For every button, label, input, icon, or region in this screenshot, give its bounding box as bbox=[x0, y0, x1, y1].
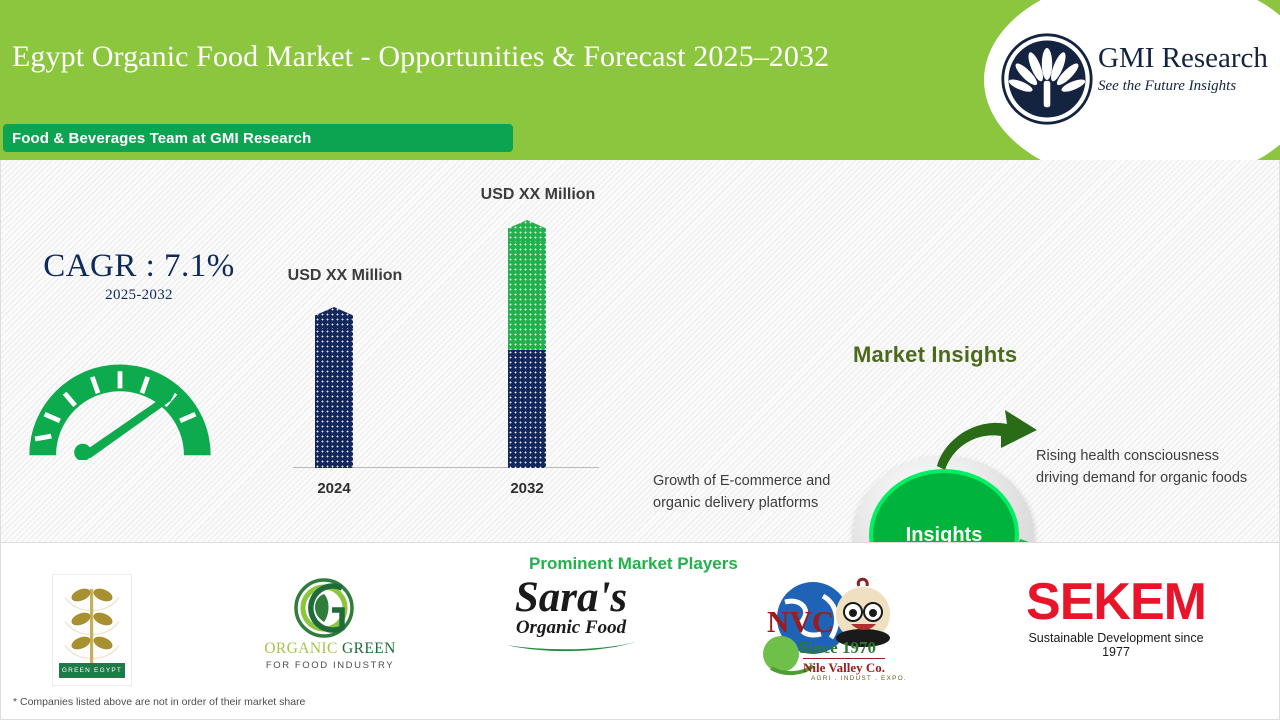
organic-green-tagline: FOR FOOD INDUSTRY bbox=[256, 660, 404, 671]
footnote: * Companies listed above are not in orde… bbox=[13, 696, 305, 708]
team-badge: Food & Beverages Team at GMI Research bbox=[3, 124, 513, 152]
saras-tagline: Organic Food bbox=[491, 617, 651, 639]
page-header: Egypt Organic Food Market - Opportunitie… bbox=[0, 0, 1280, 160]
gmi-research-logo: GMI Research See the Future Insights bbox=[1000, 32, 1270, 128]
og-monogram-icon bbox=[280, 576, 380, 640]
prominent-market-players-title: Prominent Market Players bbox=[529, 554, 738, 574]
cagr-period: 2025-2032 bbox=[19, 287, 259, 304]
gmi-logo-text: GMI Research See the Future Insights bbox=[1098, 44, 1268, 95]
bar-value-label-2032: USD XX Million bbox=[468, 185, 608, 205]
sekem-name: SEKEM bbox=[1016, 576, 1216, 628]
player-logo-nvc: NVC Since 1970 Nile Valley Co. AGRI . IN… bbox=[751, 575, 931, 685]
cagr-value: CAGR : 7.1% bbox=[19, 248, 259, 285]
market-size-bar-chart: USD XX Million 2024 USD XX Million 2032 bbox=[281, 190, 611, 520]
saras-name: Sara's bbox=[491, 576, 651, 619]
saras-swoosh-icon bbox=[501, 639, 641, 653]
organic-green-word1: ORGANIC bbox=[264, 640, 337, 657]
organic-green-word2: GREEN bbox=[342, 640, 396, 657]
market-insights-title: Market Insights bbox=[853, 342, 1017, 368]
nvc-initials: NVC bbox=[767, 604, 834, 640]
bar-2024-tip bbox=[315, 307, 353, 329]
infographic-page: Egypt Organic Food Market - Opportunitie… bbox=[0, 0, 1280, 720]
gmi-logo-name: GMI Research bbox=[1098, 44, 1268, 73]
cagr-block: CAGR : 7.1% 2025-2032 bbox=[19, 248, 259, 304]
green-egypt-mark: GREEN EGYPT bbox=[52, 574, 132, 686]
bar-category-2032: 2032 bbox=[467, 480, 587, 497]
nvc-company: Nile Valley Co. bbox=[803, 658, 885, 676]
nvc-since: Since 1970 bbox=[799, 638, 876, 658]
insight-text-left: Growth of E-commerce and organic deliver… bbox=[653, 470, 843, 515]
gmi-palm-mark-icon bbox=[1000, 32, 1094, 126]
bar-2032-tip bbox=[508, 220, 546, 242]
organic-green-name: ORGANIC GREEN bbox=[256, 640, 404, 658]
page-footer: Prominent Market Players bbox=[0, 542, 1280, 720]
speedometer-gauge-icon bbox=[15, 355, 225, 460]
sekem-tagline: Sustainable Development since 1977 bbox=[1016, 631, 1216, 659]
bar-2032 bbox=[508, 242, 546, 468]
team-badge-label: Food & Beverages Team at GMI Research bbox=[3, 130, 311, 147]
bar-2032-growth bbox=[508, 242, 546, 350]
page-title: Egypt Organic Food Market - Opportunitie… bbox=[12, 40, 829, 74]
bar-value-label-2024: USD XX Million bbox=[275, 266, 415, 286]
player-logo-organic-green: ORGANIC GREEN FOR FOOD INDUSTRY bbox=[256, 575, 404, 685]
bar-2032-base bbox=[508, 350, 546, 468]
green-egypt-label: GREEN EGYPT bbox=[59, 663, 125, 678]
bar-category-2024: 2024 bbox=[274, 480, 394, 497]
bar-2024 bbox=[315, 329, 353, 468]
market-players-logo-row: GREEN EGYPT ORGANIC GREEN FOR bbox=[1, 575, 1280, 685]
insight-arrow-top-icon bbox=[931, 400, 1043, 472]
player-logo-sekem: SEKEM Sustainable Development since 1977 bbox=[1016, 575, 1216, 685]
main-content-area: CAGR : 7.1% 2025-2032 USD XX Million bbox=[0, 160, 1280, 542]
bar-2024-base bbox=[315, 329, 353, 468]
nvc-tagline: AGRI . INDUST . EXPO. bbox=[811, 675, 907, 682]
player-logo-green-egypt: GREEN EGYPT bbox=[47, 575, 137, 685]
insight-text-right: Rising health consciousness driving dema… bbox=[1036, 445, 1261, 490]
gmi-logo-tagline: See the Future Insights bbox=[1098, 78, 1268, 95]
player-logo-saras: Sara's Organic Food bbox=[491, 575, 651, 685]
